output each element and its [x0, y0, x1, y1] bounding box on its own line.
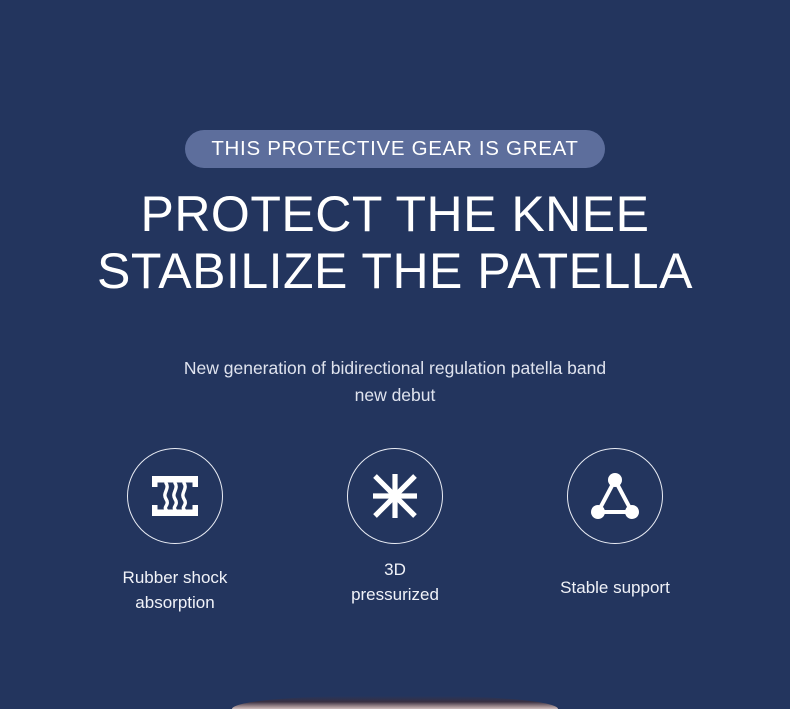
feature-label: Rubber shock absorption [123, 566, 228, 615]
feature-label-line-2: absorption [135, 593, 214, 612]
feature-list: Rubber shock absorption [85, 448, 705, 615]
headline-line-1: PROTECT THE KNEE [97, 186, 693, 243]
feature-label-line-2: pressurized [351, 585, 439, 604]
feature-icon-circle [127, 448, 223, 544]
feature-label-line-1: 3D [384, 560, 406, 579]
triangle-nodes-icon [587, 468, 643, 524]
product-image-sliver [232, 696, 558, 709]
shock-absorption-icon [146, 467, 204, 525]
feature-icon-circle [347, 448, 443, 544]
feature-label: 3D pressurized [351, 558, 439, 607]
subtitle-line-1: New generation of bidirectional regulati… [184, 355, 606, 382]
page-subtitle: New generation of bidirectional regulati… [184, 355, 606, 409]
feature-icon-circle [567, 448, 663, 544]
eyebrow-badge-label: THIS PROTECTIVE GEAR IS GREAT [211, 139, 578, 160]
feature-label: Stable support [560, 576, 670, 601]
subtitle-line-2: new debut [184, 382, 606, 409]
feature-label-line-1: Rubber shock [123, 568, 228, 587]
feature-item-rubber-shock-absorption: Rubber shock absorption [85, 448, 265, 615]
knee-brace-promo-banner: THIS PROTECTIVE GEAR IS GREAT PROTECT TH… [0, 0, 790, 709]
feature-label-line-1: Stable support [560, 578, 670, 597]
compression-arrows-icon [367, 468, 423, 524]
eyebrow-badge: THIS PROTECTIVE GEAR IS GREAT [185, 130, 604, 168]
feature-item-stable-support: Stable support [525, 448, 705, 601]
feature-item-3d-pressurized: 3D pressurized [305, 448, 485, 607]
headline-line-2: STABILIZE THE PATELLA [97, 243, 693, 300]
page-title: PROTECT THE KNEE STABILIZE THE PATELLA [97, 186, 693, 300]
